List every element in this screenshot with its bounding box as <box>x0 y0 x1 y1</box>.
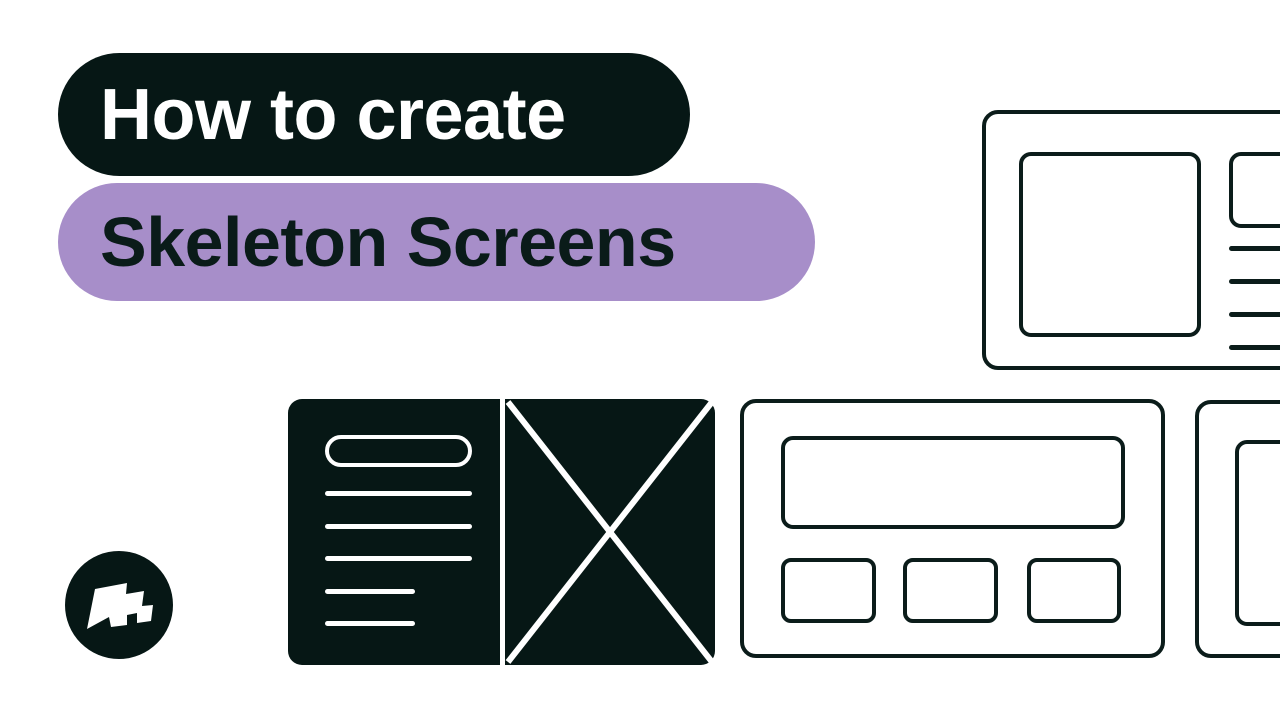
title-line2-text: Skeleton Screens <box>100 207 676 277</box>
lightning-bolt-icon <box>65 551 173 659</box>
wireframe-outlined-edge-card <box>1195 400 1280 658</box>
wireframe-dark-list-card <box>288 399 500 665</box>
brand-logo <box>65 551 173 659</box>
list-line-1 <box>325 491 472 496</box>
chip-placeholder <box>1229 152 1280 228</box>
list-line-4 <box>325 589 415 594</box>
media-line-2 <box>1229 279 1280 284</box>
wireframe-outlined-form-card <box>740 399 1165 658</box>
media-line-3 <box>1229 312 1280 317</box>
diagonal-cross-icon <box>505 399 715 665</box>
inner-block-placeholder <box>1235 440 1280 626</box>
button-placeholder-3 <box>1027 558 1121 623</box>
search-pill-placeholder <box>325 435 472 467</box>
list-line-5 <box>325 621 415 626</box>
button-placeholder-2 <box>903 558 998 623</box>
wireframe-image-placeholder <box>505 399 715 665</box>
title-pill-line2: Skeleton Screens <box>58 183 815 301</box>
media-line-1 <box>1229 246 1280 251</box>
list-line-3 <box>325 556 472 561</box>
button-placeholder-1 <box>781 558 876 623</box>
cover-canvas: How to create Skeleton Screens <box>0 0 1280 720</box>
title-line1-text: How to create <box>100 79 566 151</box>
thumbnail-placeholder <box>1019 152 1201 337</box>
wireframe-outlined-media-card <box>982 110 1280 370</box>
title-pill-line1: How to create <box>58 53 690 176</box>
list-line-2 <box>325 524 472 529</box>
hero-block-placeholder <box>781 436 1125 529</box>
media-line-4 <box>1229 345 1280 350</box>
